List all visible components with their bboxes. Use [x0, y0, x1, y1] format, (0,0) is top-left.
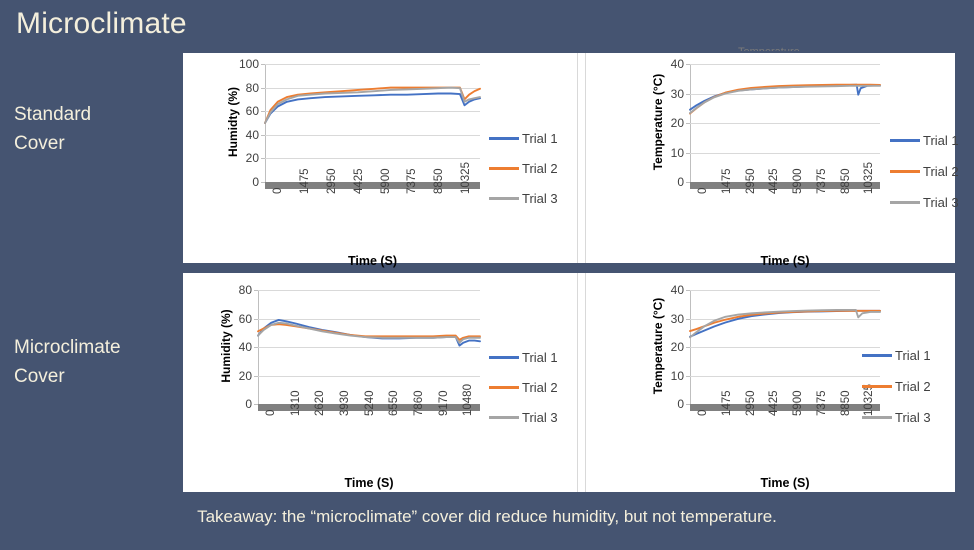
panel-divider-left — [577, 273, 578, 492]
clipped-chart-title: Temperature — [738, 47, 828, 51]
panel-divider-left — [577, 53, 578, 263]
row-label-microclimate-cover: Microclimate Cover — [14, 333, 174, 391]
chart-panel-microclimate-cover — [183, 273, 955, 492]
row-label-standard-cover: Standard Cover — [14, 100, 174, 158]
takeaway-text: Takeaway: the “microclimate” cover did r… — [0, 504, 974, 530]
panel-divider-right — [585, 273, 586, 492]
row-label-line2: Cover — [14, 362, 174, 391]
row-label-line1: Standard — [14, 100, 174, 129]
chart-panel-standard-cover — [183, 53, 955, 263]
row-label-line1: Microclimate — [14, 333, 174, 362]
row-label-line2: Cover — [14, 129, 174, 158]
panel-divider-right — [585, 53, 586, 263]
page-title: Microclimate — [16, 4, 187, 44]
